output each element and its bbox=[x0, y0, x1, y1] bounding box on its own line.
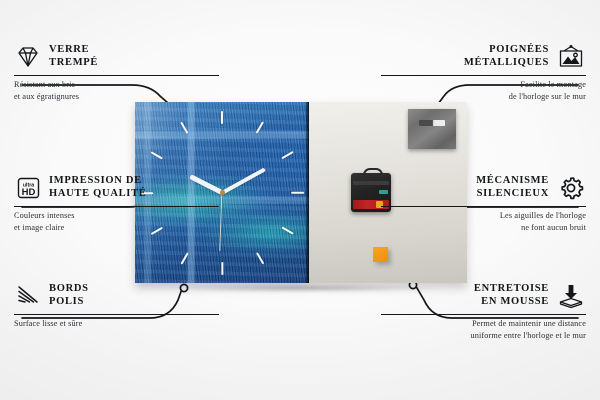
feature-divider bbox=[381, 75, 586, 76]
hour-marker bbox=[281, 150, 293, 159]
hour-marker bbox=[221, 111, 223, 124]
feature-poignees-metalliques: POIGNÉES MÉTALLIQUES Facilite le montage… bbox=[381, 42, 586, 102]
hour-marker bbox=[221, 262, 223, 275]
feature-title: BORDS POLIS bbox=[49, 283, 89, 309]
feature-description: Surface lisse et sûre bbox=[14, 318, 219, 330]
clock-center-cap bbox=[220, 190, 225, 195]
clock-second-hand bbox=[219, 192, 222, 250]
polished-edge-icon bbox=[14, 284, 42, 308]
picture-frame-hook-icon bbox=[556, 44, 586, 70]
mechanism-hanging-loop bbox=[363, 168, 383, 179]
feature-mecanisme-silencieux: MÉCANISME SILENCIEUX Les aiguilles de l'… bbox=[381, 173, 586, 233]
gear-icon bbox=[556, 175, 586, 201]
feature-description: Couleurs intenses et image claire bbox=[14, 210, 219, 233]
hour-marker bbox=[281, 226, 293, 235]
feature-title: POIGNÉES MÉTALLIQUES bbox=[464, 44, 549, 70]
feature-bords-polis: BORDS POLIS Surface lisse et sûre bbox=[14, 281, 219, 330]
feature-impression-haute-qualite: ultra HD IMPRESSION DE HAUTE QUALITÉ Cou… bbox=[14, 173, 219, 233]
hour-marker bbox=[255, 121, 264, 133]
hanger-slot bbox=[419, 120, 445, 126]
arrow-down-pad-icon bbox=[556, 283, 586, 309]
svg-text:HD: HD bbox=[22, 187, 36, 198]
feature-entretoise-en-mousse: ENTRETOISE EN MOUSSE Permet de maintenir… bbox=[381, 281, 586, 341]
feature-title: VERRE TREMPÉ bbox=[49, 44, 98, 70]
metal-hanger-plate bbox=[408, 109, 456, 149]
hour-marker bbox=[255, 252, 264, 264]
feature-divider bbox=[14, 314, 219, 315]
feature-description: Permet de maintenir une distance uniform… bbox=[381, 318, 586, 341]
feature-description: Résistant aux bris et aux égratignures bbox=[14, 79, 219, 102]
hour-marker bbox=[180, 121, 189, 133]
feature-title: MÉCANISME SILENCIEUX bbox=[476, 175, 549, 201]
infographic-canvas: VERRE TREMPÉ Résistant aux bris et aux é… bbox=[0, 0, 600, 400]
hour-marker bbox=[291, 191, 304, 193]
feature-verre-trempe: VERRE TREMPÉ Résistant aux bris et aux é… bbox=[14, 42, 219, 102]
feature-title: IMPRESSION DE HAUTE QUALITÉ bbox=[49, 175, 147, 201]
feature-description: Les aiguilles de l'horloge ne font aucun… bbox=[381, 210, 586, 233]
hour-marker bbox=[150, 150, 162, 159]
ultra-hd-icon: ultra HD bbox=[14, 176, 42, 200]
feature-divider bbox=[381, 206, 586, 207]
feature-title: ENTRETOISE EN MOUSSE bbox=[474, 283, 549, 309]
feature-divider bbox=[14, 206, 219, 207]
clock-minute-hand bbox=[221, 167, 266, 194]
foam-spacer bbox=[373, 247, 388, 262]
feature-divider bbox=[381, 314, 586, 315]
feature-description: Facilite le montage de l'horloge sur le … bbox=[381, 79, 586, 102]
diamond-icon bbox=[14, 45, 42, 69]
hour-marker bbox=[180, 252, 189, 264]
feature-divider bbox=[14, 75, 219, 76]
